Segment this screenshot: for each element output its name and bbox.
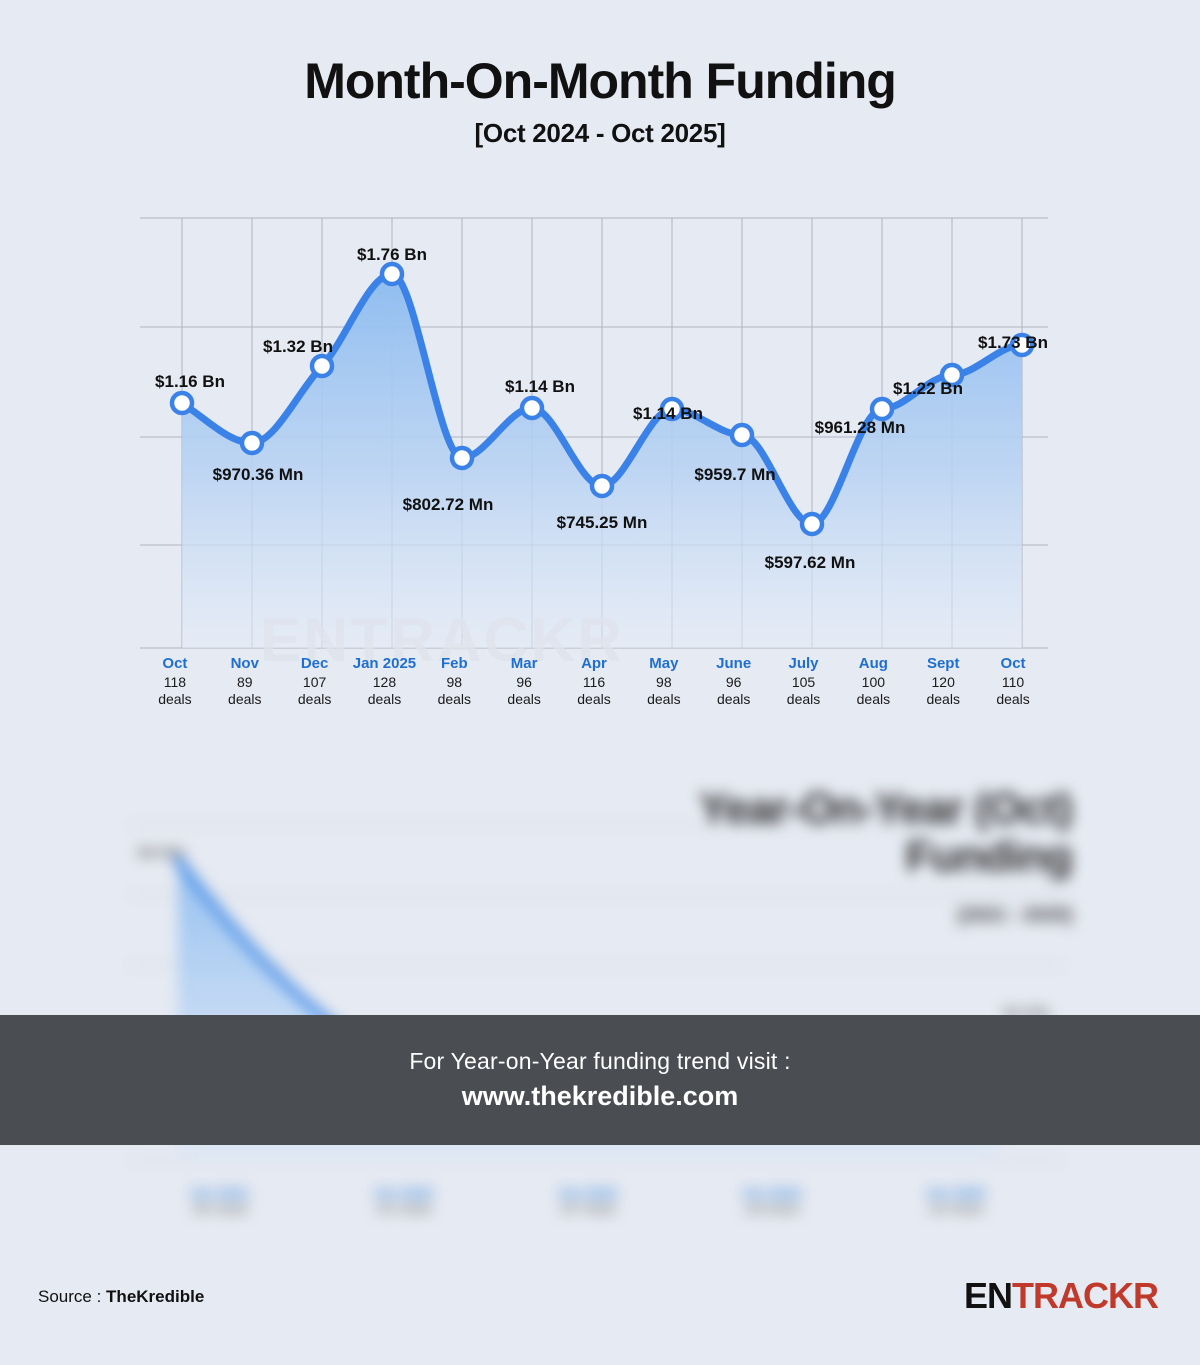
x-tick-deals-suffix: deals (559, 691, 629, 709)
data-label: $959.7 Mn (694, 465, 775, 484)
yoy-x-tick: Oct 2025 110 deals (864, 1185, 1048, 1216)
header: Month-On-Month Funding [Oct 2024 - Oct 2… (0, 0, 1200, 149)
yoy-title: Year-On-Year (Oct) Funding (432, 785, 1072, 880)
x-tick-deals-suffix: deals (419, 691, 489, 709)
x-tick-deals: 96 (699, 674, 769, 692)
source-label: Source : (38, 1287, 106, 1306)
x-tick-month: Nov (210, 655, 280, 674)
data-label: $802.72 Mn (403, 495, 494, 514)
chart-svg: $1.16 Bn $970.36 Mn $1.32 Bn $1.76 Bn $8… (0, 190, 1200, 735)
yoy-x-tick: Oct 2024 118 deals (680, 1185, 864, 1216)
promo-banner: For Year-on-Year funding trend visit : w… (0, 1015, 1200, 1145)
x-tick-deals: 107 (280, 674, 350, 692)
page-subtitle: [Oct 2024 - Oct 2025] (0, 118, 1200, 149)
x-tick-month: Apr (559, 655, 629, 674)
x-tick-deals: 128 (350, 674, 420, 692)
x-tick-month: Sept (908, 655, 978, 674)
data-label: $1.76 Bn (357, 245, 427, 264)
entrackr-logo: ENTRACKR (964, 1275, 1158, 1317)
x-tick-deals: 105 (769, 674, 839, 692)
data-label: $1.73 Bn (978, 333, 1048, 352)
x-tick-deals: 100 (838, 674, 908, 692)
x-tick-deals-suffix: deals (350, 691, 420, 709)
x-tick-deals: 110 (978, 674, 1048, 692)
data-point (242, 433, 262, 453)
yoy-tick-month: Oct 2023 (496, 1185, 680, 1201)
x-tick-jan-2025: Jan 2025 128 deals (350, 655, 420, 730)
x-tick-deals-suffix: deals (629, 691, 699, 709)
data-point (452, 448, 472, 468)
yoy-x-tick: Oct 2023 107 deals (496, 1185, 680, 1216)
x-tick-may: May 98 deals (629, 655, 699, 730)
data-label: $1.22 Bn (893, 379, 963, 398)
infographic-page: Month-On-Month Funding [Oct 2024 - Oct 2… (0, 0, 1200, 1365)
x-tick-nov: Nov 89 deals (210, 655, 280, 730)
data-label: $1.14 Bn (633, 404, 703, 423)
x-tick-oct-2025: Oct 110 deals (978, 655, 1048, 730)
x-tick-sept: Sept 120 deals (908, 655, 978, 730)
data-label: $1.32 Bn (263, 337, 333, 356)
x-tick-deals-suffix: deals (838, 691, 908, 709)
yoy-tick-month: Oct 2024 (680, 1185, 864, 1201)
data-point (872, 399, 892, 419)
x-tick-deals-suffix: deals (280, 691, 350, 709)
x-tick-month: Mar (489, 655, 559, 674)
data-point (172, 393, 192, 413)
x-tick-mar: Mar 96 deals (489, 655, 559, 730)
logo-text-part2: TRACKR (1012, 1275, 1158, 1316)
source-value: TheKredible (106, 1287, 204, 1306)
data-point (592, 476, 612, 496)
x-tick-deals: 98 (419, 674, 489, 692)
x-tick-deals: 98 (629, 674, 699, 692)
yoy-tick-month: Oct 2021 (128, 1185, 312, 1201)
yoy-tick-month: Oct 2022 (312, 1185, 496, 1201)
x-tick-deals: 96 (489, 674, 559, 692)
x-tick-deals-suffix: deals (140, 691, 210, 709)
data-label: $745.25 Mn (557, 513, 648, 532)
x-tick-month: June (699, 655, 769, 674)
x-tick-deals: 116 (559, 674, 629, 692)
x-tick-month: July (769, 655, 839, 674)
x-tick-aug: Aug 100 deals (838, 655, 908, 730)
data-point (732, 425, 752, 445)
yoy-x-axis: Oct 2021 181 deals Oct 2022 151 deals Oc… (128, 1185, 1048, 1216)
year-on-year-section-blurred: Year-On-Year (Oct) Funding [2021 - 2025]… (0, 760, 1200, 1260)
source-attribution: Source : TheKredible (38, 1287, 204, 1307)
data-label: $597.62 Mn (765, 553, 856, 572)
yoy-x-tick: Oct 2021 181 deals (128, 1185, 312, 1216)
x-tick-month: Aug (838, 655, 908, 674)
x-tick-month: May (629, 655, 699, 674)
footer: Source : TheKredible ENTRACKR (0, 1265, 1200, 1365)
month-on-month-chart: ENTRACKR (0, 190, 1200, 735)
promo-website-link[interactable]: www.thekredible.com (462, 1081, 739, 1112)
data-label: $970.36 Mn (213, 465, 304, 484)
x-tick-month: Oct (140, 655, 210, 674)
data-label: $1.14 Bn (505, 377, 575, 396)
x-tick-deals-suffix: deals (908, 691, 978, 709)
logo-text-part1: EN (964, 1275, 1012, 1316)
x-tick-deals: 120 (908, 674, 978, 692)
yoy-label-top: $3.5 Bn (138, 845, 184, 860)
yoy-tick-deals: 110 deals (864, 1201, 1048, 1216)
yoy-title-line1: Year-On-Year (Oct) (699, 784, 1072, 833)
yoy-subtitle: [2021 - 2025] (672, 905, 1072, 927)
data-point (312, 356, 332, 376)
x-tick-month: Jan 2025 (350, 655, 420, 674)
yoy-tick-deals: 151 deals (312, 1201, 496, 1216)
x-tick-dec: Dec 107 deals (280, 655, 350, 730)
x-tick-june: June 96 deals (699, 655, 769, 730)
x-tick-deals-suffix: deals (978, 691, 1048, 709)
data-label: $961.28 Mn (815, 418, 906, 437)
x-tick-month: Dec (280, 655, 350, 674)
x-tick-feb: Feb 98 deals (419, 655, 489, 730)
page-title: Month-On-Month Funding (0, 55, 1200, 108)
data-point (382, 264, 402, 284)
x-tick-month: Oct (978, 655, 1048, 674)
x-tick-oct-2024: Oct 118 deals (140, 655, 210, 730)
data-label: $1.16 Bn (155, 372, 225, 391)
x-tick-july: July 105 deals (769, 655, 839, 730)
yoy-title-line2: Funding (906, 832, 1073, 881)
yoy-tick-deals: 118 deals (680, 1201, 864, 1216)
x-tick-deals-suffix: deals (769, 691, 839, 709)
yoy-x-tick: Oct 2022 151 deals (312, 1185, 496, 1216)
x-tick-deals: 89 (210, 674, 280, 692)
yoy-tick-deals: 181 deals (128, 1201, 312, 1216)
x-tick-apr: Apr 116 deals (559, 655, 629, 730)
data-point (522, 398, 542, 418)
x-tick-deals-suffix: deals (210, 691, 280, 709)
yoy-tick-month: Oct 2025 (864, 1185, 1048, 1201)
x-tick-deals-suffix: deals (699, 691, 769, 709)
yoy-tick-deals: 107 deals (496, 1201, 680, 1216)
x-axis: Oct 118 deals Nov 89 deals Dec 107 deals… (140, 655, 1048, 730)
x-tick-month: Feb (419, 655, 489, 674)
data-point (802, 514, 822, 534)
x-tick-deals-suffix: deals (489, 691, 559, 709)
x-tick-deals: 118 (140, 674, 210, 692)
promo-text: For Year-on-Year funding trend visit : (409, 1048, 790, 1075)
